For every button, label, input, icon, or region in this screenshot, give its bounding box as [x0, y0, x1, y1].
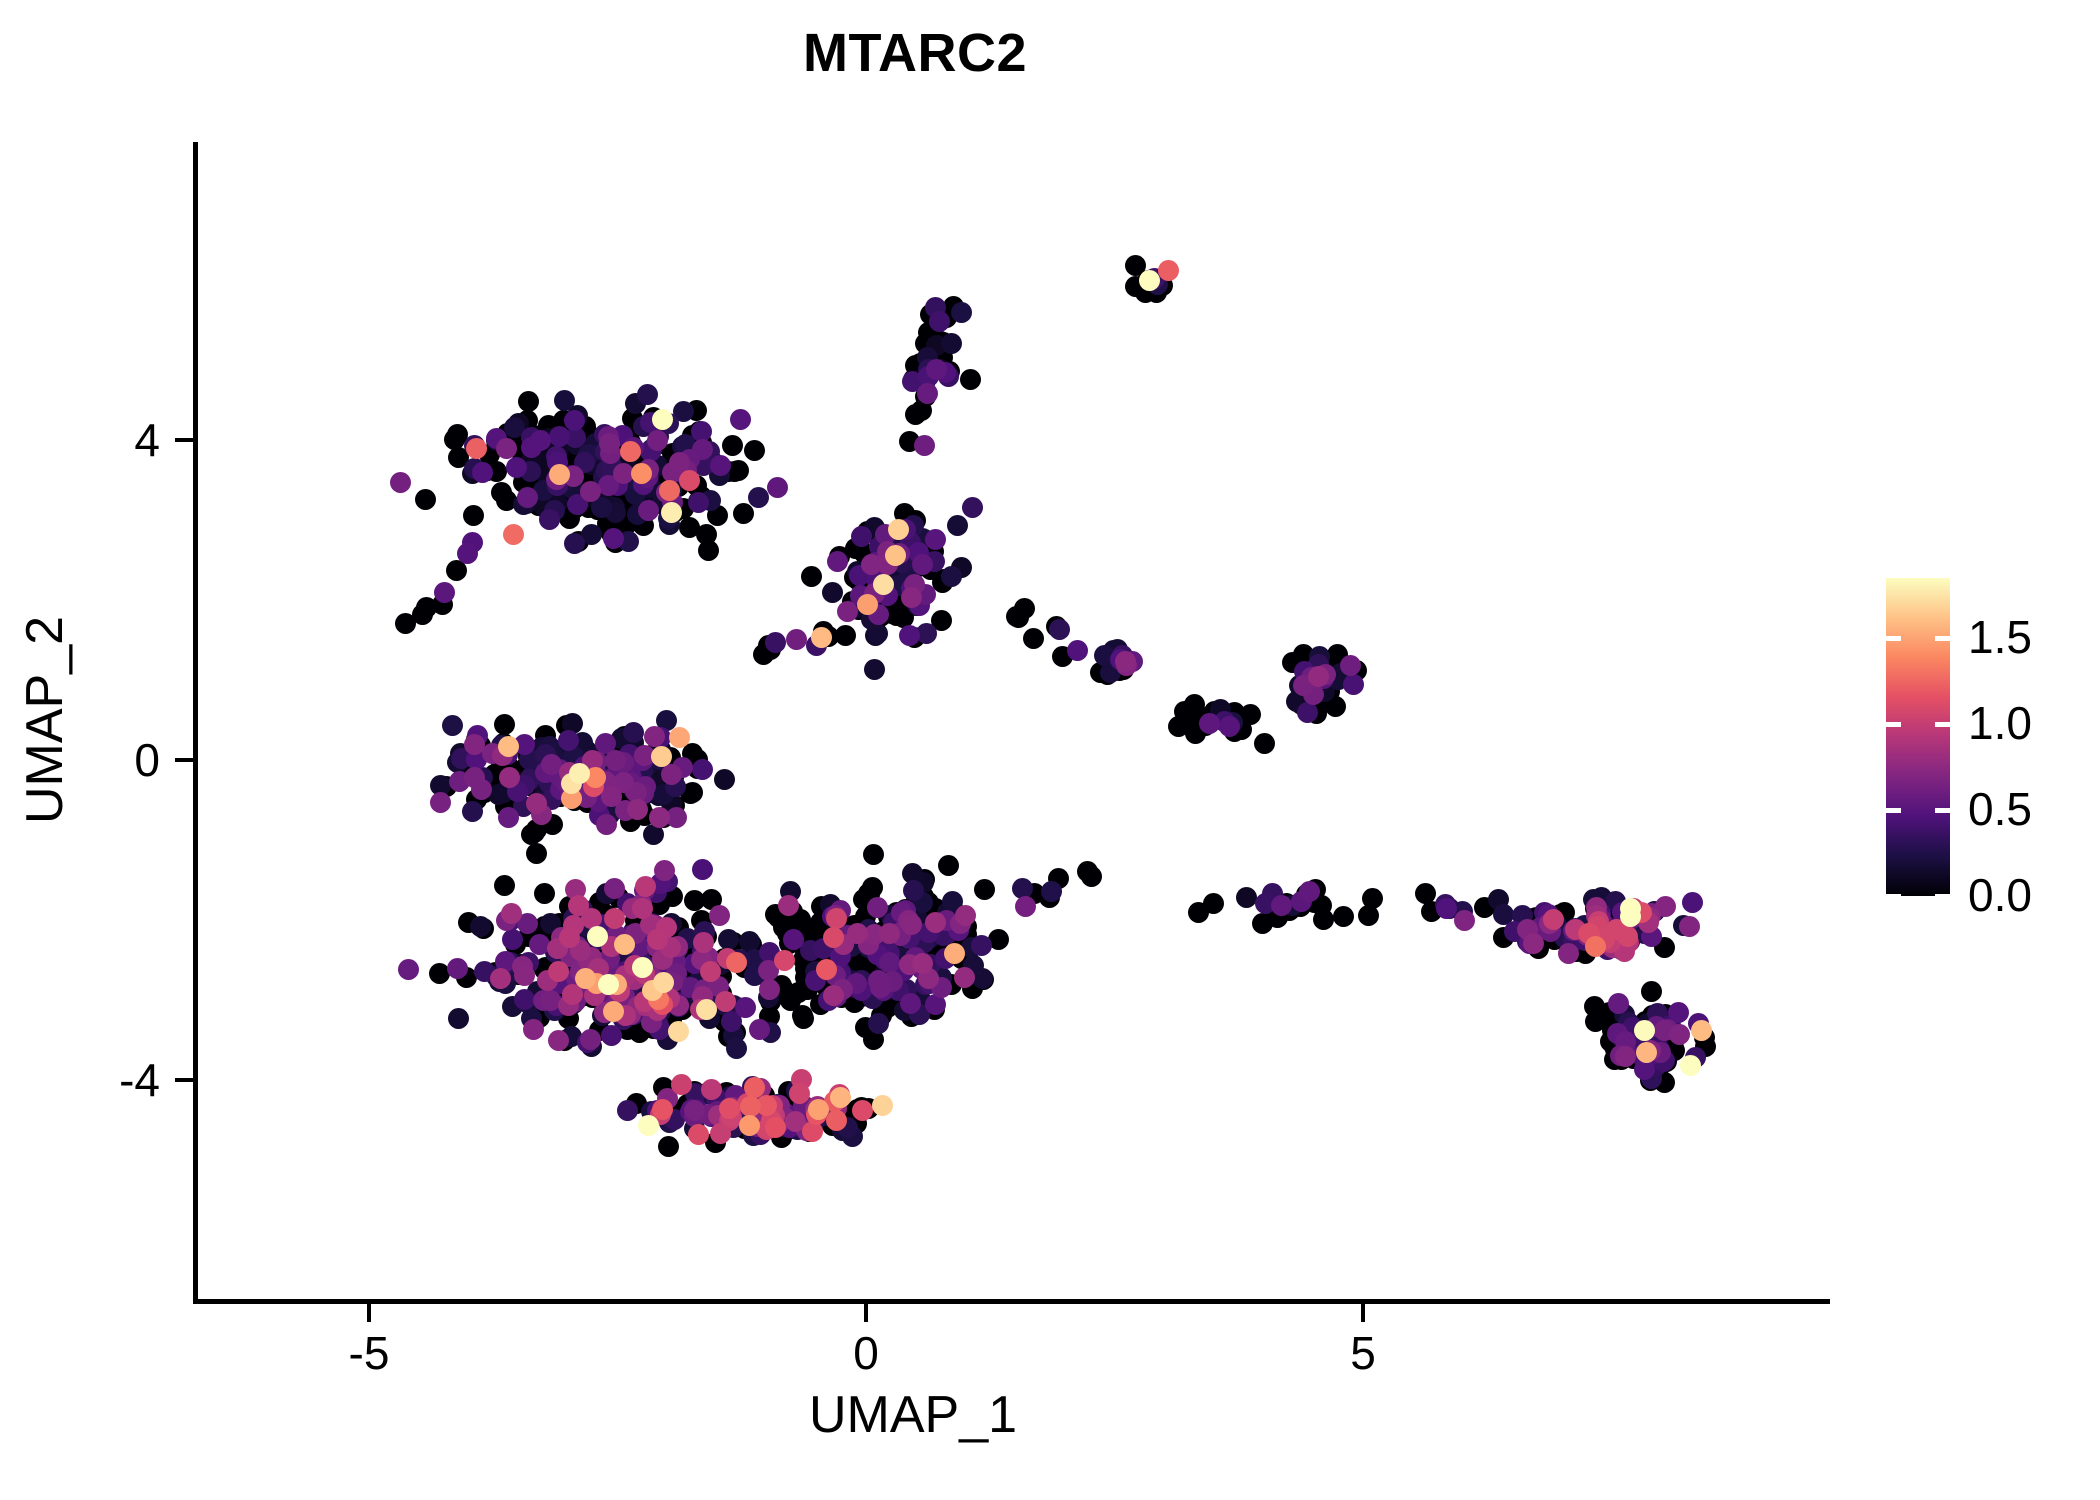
scatter-point [899, 625, 920, 646]
scatter-point [1436, 898, 1457, 919]
scatter-point [1077, 861, 1098, 882]
scatter-point [1139, 270, 1160, 291]
scatter-point [501, 903, 522, 924]
scatter-point [715, 991, 736, 1012]
scatter-point [1585, 1011, 1606, 1032]
scatter-point [599, 433, 620, 454]
scatter-point [669, 727, 690, 748]
scatter-point [816, 959, 837, 980]
scatter-point [503, 524, 524, 545]
scatter-point [653, 972, 674, 993]
y-tick-mark [175, 1078, 193, 1082]
scatter-point [549, 426, 570, 447]
x-tick-mark [367, 1304, 371, 1322]
scatter-point [635, 876, 656, 897]
scatter-point [463, 505, 484, 526]
scatter-point [1615, 1046, 1636, 1067]
scatter-point [658, 1136, 679, 1157]
scatter-point [580, 481, 601, 502]
scatter-point [668, 1021, 689, 1042]
y-tick-mark [175, 758, 193, 762]
scatter-point [494, 875, 515, 896]
scatter-point [1691, 1020, 1712, 1041]
scatter-point [638, 500, 659, 521]
x-tick-label: -5 [299, 1330, 439, 1376]
scatter-point [442, 715, 463, 736]
scatter-point [564, 410, 585, 431]
scatter-point [722, 435, 743, 456]
y-tick-label: -4 [40, 1057, 160, 1103]
scatter-point [765, 632, 786, 653]
scatter-point [1415, 883, 1436, 904]
scatter-point [514, 989, 535, 1010]
y-axis-title: UMAP_2 [15, 420, 75, 1020]
scatter-point [718, 929, 739, 950]
scatter-point [710, 455, 731, 476]
scatter-point [696, 524, 717, 545]
scatter-point [651, 746, 672, 767]
umap-feature-plot: MTARC2 -50540-4 UMAP_1 UMAP_2 1.51.00.50… [0, 0, 2100, 1500]
scatter-point [448, 1008, 469, 1029]
scatter-point [863, 844, 884, 865]
scatter-point [744, 1077, 765, 1098]
scatter-point [684, 1100, 705, 1121]
scatter-point [444, 429, 465, 450]
scatter-point [457, 543, 478, 564]
scatter-point [490, 968, 511, 989]
scatter-point [647, 430, 668, 451]
scatter-point [462, 801, 483, 822]
scatter-point [1362, 888, 1383, 909]
scatter-point [494, 714, 515, 735]
scatter-point [1558, 943, 1579, 964]
scatter-point [1608, 993, 1629, 1014]
scatter-point [914, 435, 935, 456]
scatter-point [596, 814, 617, 835]
scatter-point [778, 895, 799, 916]
scatter-point [644, 726, 665, 747]
scatter-point [614, 934, 635, 955]
scatter-point [1158, 260, 1179, 281]
scatter-point [827, 551, 848, 572]
scatter-point [926, 359, 947, 380]
scatter-point [498, 807, 519, 828]
scatter-point [517, 487, 538, 508]
scatter-point [786, 629, 807, 650]
colorbar-tick-label: 0.5 [1968, 786, 2032, 832]
scatter-point [1617, 926, 1638, 947]
scatter-point [506, 457, 527, 478]
scatter-point [390, 472, 411, 493]
scatter-point [688, 492, 709, 513]
scatter-point [900, 993, 921, 1014]
scatter-point [620, 441, 641, 462]
scatter-point [1454, 910, 1475, 931]
scatter-point [974, 879, 995, 900]
scatter-point [774, 950, 795, 971]
scatter-point [1641, 981, 1662, 1002]
scatter-point [1023, 628, 1044, 649]
scatter-point [679, 470, 700, 491]
scatter-point [539, 509, 560, 530]
scatter-point [925, 529, 946, 550]
scatter-point [1543, 909, 1564, 930]
scatter-point [1115, 651, 1136, 672]
scatter-point [692, 759, 713, 780]
scatter-point [793, 1008, 814, 1029]
scatter-point [558, 730, 579, 751]
scatter-point [941, 566, 962, 587]
colorbar-tick-mark [1935, 636, 1950, 641]
scatter-point [903, 880, 924, 901]
scatter-point [549, 464, 570, 485]
scatter-point [521, 437, 542, 458]
colorbar-tick-mark [1886, 808, 1901, 813]
scatter-point [1015, 896, 1036, 917]
scatter-point [1049, 619, 1070, 640]
scatter-point [623, 722, 644, 743]
scatter-point [1254, 733, 1275, 754]
scatter-point [1236, 887, 1257, 908]
scatter-point [514, 965, 535, 986]
scatter-point [901, 587, 922, 608]
scatter-point [944, 943, 965, 964]
scatter-point [870, 977, 891, 998]
scatter-point [726, 1038, 747, 1059]
scatter-point [605, 750, 626, 771]
scatter-point [1308, 666, 1329, 687]
scatter-point [1669, 1024, 1690, 1045]
scatter-point [447, 958, 468, 979]
scatter-point [415, 489, 436, 510]
scatter-point [1620, 898, 1641, 919]
scatter-point [912, 554, 933, 575]
scatter-point [398, 959, 419, 980]
scatter-point [971, 935, 992, 956]
scatter-point [559, 927, 580, 948]
scatter-point [688, 1124, 709, 1145]
scatter-point [637, 384, 658, 405]
scatter-point [916, 623, 937, 644]
colorbar-tick-mark [1886, 636, 1901, 641]
scatter-point [1240, 704, 1261, 725]
x-tick-label: 5 [1293, 1330, 1433, 1376]
scatter-point [1299, 881, 1320, 902]
scatter-panel [198, 142, 1828, 1299]
scatter-point [823, 985, 844, 1006]
scatter-point [954, 967, 975, 988]
colorbar-tick-mark [1886, 722, 1901, 727]
scatter-point [748, 487, 769, 508]
colorbar-tick-mark [1935, 808, 1950, 813]
scatter-point [601, 1025, 622, 1046]
scatter-point [823, 927, 844, 948]
scatter-point [548, 961, 569, 982]
colorbar-tick-mark [1886, 894, 1901, 899]
scatter-point [739, 1115, 760, 1136]
scatter-point [811, 627, 832, 648]
colorbar-tick-mark [1935, 722, 1950, 727]
scatter-point [430, 792, 451, 813]
scatter-point [744, 440, 765, 461]
scatter-point [822, 582, 843, 603]
scatter-point [960, 369, 981, 390]
scatter-point [518, 391, 539, 412]
scatter-point [912, 953, 933, 974]
scatter-point [767, 477, 788, 498]
x-tick-label: 0 [796, 1330, 936, 1376]
scatter-point [470, 916, 491, 937]
scatter-point [864, 659, 885, 680]
x-tick-mark [1361, 1304, 1365, 1322]
y-axis-line [193, 142, 198, 1304]
scatter-point [696, 999, 717, 1020]
scatter-point [652, 409, 673, 430]
scatter-point [603, 528, 624, 549]
scatter-point [868, 1013, 889, 1034]
scatter-point [1680, 1055, 1701, 1076]
colorbar-tick-label: 0.0 [1968, 872, 2032, 918]
scatter-point [1008, 607, 1029, 628]
scatter-point [526, 793, 547, 814]
scatter-point [1523, 933, 1544, 954]
scatter-point [692, 859, 713, 880]
scatter-point [826, 908, 847, 929]
scatter-point [632, 957, 653, 978]
scatter-point [1585, 936, 1606, 957]
scatter-point [872, 1095, 893, 1116]
scatter-point [826, 1110, 847, 1131]
scatter-point [735, 997, 756, 1018]
x-axis-title: UMAP_1 [613, 1385, 1213, 1445]
colorbar-tick-label: 1.5 [1968, 614, 2032, 660]
scatter-point [496, 438, 517, 459]
scatter-point [938, 855, 959, 876]
scatter-point [523, 1019, 544, 1040]
scatter-point [885, 545, 906, 566]
scatter-point [580, 1029, 601, 1050]
colorbar-gradient [1886, 578, 1950, 896]
scatter-point [701, 1079, 722, 1100]
scatter-point [1067, 640, 1088, 661]
scatter-point [466, 438, 487, 459]
scatter-point [575, 968, 596, 989]
scatter-point [730, 409, 751, 430]
scatter-point [801, 566, 822, 587]
scatter-point [554, 390, 575, 411]
scatter-point [526, 843, 547, 864]
scatter-point [647, 929, 668, 950]
y-tick-mark [175, 438, 193, 442]
scatter-point [534, 883, 555, 904]
scatter-point [879, 923, 900, 944]
scatter-point [951, 302, 972, 323]
scatter-point [1333, 906, 1354, 927]
scatter-point [1679, 916, 1700, 937]
scatter-point [962, 497, 983, 518]
scatter-point [733, 503, 754, 524]
scatter-point [789, 1083, 810, 1104]
colorbar-tick-mark [1935, 894, 1950, 899]
scatter-point [1203, 893, 1224, 914]
scatter-point [617, 1100, 638, 1121]
scatter-point [941, 333, 962, 354]
scatter-point [598, 974, 619, 995]
scatter-point [529, 934, 550, 955]
scatter-point [852, 1100, 873, 1121]
scatter-point [638, 1115, 659, 1136]
scatter-point [1634, 1020, 1655, 1041]
scatter-point [851, 526, 872, 547]
x-tick-mark [864, 1304, 868, 1322]
scatter-point [714, 769, 735, 790]
page-title: MTARC2 [0, 22, 1830, 84]
scatter-point [631, 463, 652, 484]
scatter-point [601, 786, 622, 807]
scatter-point [947, 515, 968, 536]
scatter-point [929, 311, 950, 332]
scatter-point [1682, 892, 1703, 913]
scatter-point [1199, 713, 1220, 734]
colorbar-tick-label: 1.0 [1968, 700, 2032, 746]
scatter-point [564, 533, 585, 554]
scatter-point [749, 1019, 770, 1040]
scatter-point [1041, 881, 1062, 902]
scatter-point [709, 905, 730, 926]
scatter-point [1343, 674, 1364, 695]
scatter-point [587, 926, 608, 947]
colorbar [1886, 578, 1950, 896]
x-axis-line [193, 1299, 1830, 1304]
